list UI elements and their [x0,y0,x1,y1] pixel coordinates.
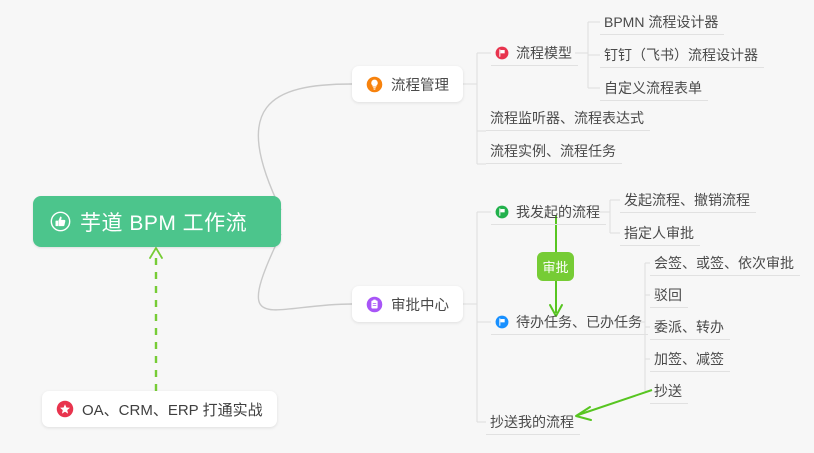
node-daiban-yiban-renwu[interactable]: 待办任务、已办任务 [491,309,648,335]
node-label: 自定义流程表单 [604,78,702,98]
node-label: 加签、减签 [654,349,724,369]
note-label: OA、CRM、ERP 打通实战 [82,399,263,420]
node-chaosong[interactable]: 抄送 [650,378,688,404]
branch-node-label: 流程管理 [391,74,449,95]
approve-badge[interactable]: 审批 [537,252,574,281]
star-icon [56,400,74,418]
node-liucheng-moxing[interactable]: 流程模型 [491,40,578,66]
node-weipai-zhuanban[interactable]: 委派、转办 [650,314,730,340]
node-label: 待办任务、已办任务 [516,312,642,332]
node-wo-faqi-de-liucheng[interactable]: 我发起的流程 [491,199,606,225]
node-label: 驳回 [654,285,682,305]
node-label: 流程实例、流程任务 [490,141,616,161]
node-jiaqian-jianqian[interactable]: 加签、减签 [650,346,730,372]
node-zidingyi-biaodan[interactable]: 自定义流程表单 [600,75,708,101]
thumbs-up-icon [50,211,71,232]
flag-icon [495,46,509,60]
root-node-label: 芋道 BPM 工作流 [80,207,247,237]
node-label: 流程监听器、流程表达式 [490,108,644,128]
node-huiqian-huoqian[interactable]: 会签、或签、依次审批 [650,250,800,276]
node-label: 发起流程、撤销流程 [624,190,750,210]
link-root-to-liucheng-guanli [258,84,352,210]
node-label: 抄送 [654,381,682,401]
branch-node-liucheng-guanli[interactable]: 流程管理 [352,66,463,102]
node-liucheng-shili[interactable]: 流程实例、流程任务 [486,138,622,164]
node-label: BPMN 流程设计器 [604,12,718,32]
node-bpmn-sheji[interactable]: BPMN 流程设计器 [600,9,724,35]
branch-node-shenpi-zhongxin[interactable]: 审批中心 [352,286,463,322]
note-oa-crm-erp[interactable]: OA、CRM、ERP 打通实战 [42,391,277,427]
node-dingding-sheji[interactable]: 钉钉（飞书）流程设计器 [600,42,764,68]
node-label: 我发起的流程 [516,202,600,222]
arrow-chaosong-flow [578,390,652,415]
node-label: 钉钉（飞书）流程设计器 [604,45,758,65]
flag-icon [495,315,509,329]
flag-icon [495,205,509,219]
node-label: 抄送我的流程 [490,412,574,432]
link-shenpi-zhongxin-bracket [463,212,491,422]
root-node[interactable]: 芋道 BPM 工作流 [33,196,281,247]
node-label: 指定人审批 [624,223,694,243]
node-label: 流程模型 [516,43,572,63]
node-label: 委派、转办 [654,317,724,337]
node-faqi-chexiao[interactable]: 发起流程、撤销流程 [620,187,756,213]
node-jiantingqi[interactable]: 流程监听器、流程表达式 [486,105,650,131]
mindmap-canvas: 芋道 BPM 工作流 流程管理 流程模型 BPMN 流程设计器 钉钉（飞书）流程 [0,0,814,453]
lightbulb-icon [366,76,383,93]
branch-node-label: 审批中心 [391,294,449,315]
node-bohui[interactable]: 驳回 [650,282,688,308]
node-zhidingren-shenpi[interactable]: 指定人审批 [620,220,700,246]
clipboard-icon [366,296,383,313]
node-chaosong-wode-liucheng[interactable]: 抄送我的流程 [486,409,580,435]
arrow-oa-note-arrowhead [150,248,162,258]
link-liucheng-moxing-bracket [575,22,600,88]
node-label: 会签、或签、依次审批 [654,253,794,273]
approve-badge-label: 审批 [542,257,568,276]
